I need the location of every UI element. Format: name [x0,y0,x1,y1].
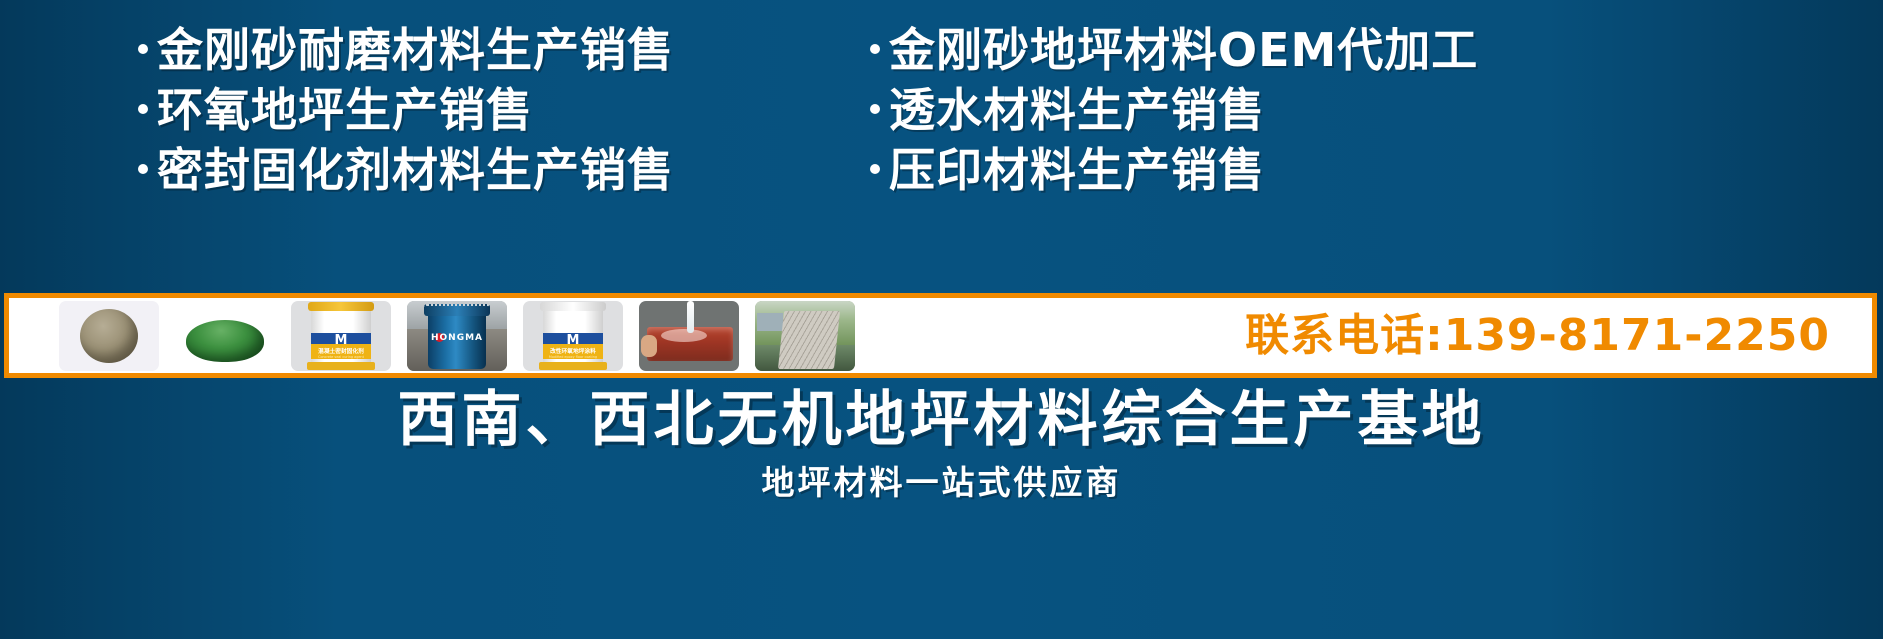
bucket-label-text: 改性环氧地坪涂料 [545,348,602,355]
bullet-icon [870,44,880,54]
powder-mound [80,309,138,363]
bucket-base [539,362,607,370]
feature-label: 透水材料生产销售 [889,82,1265,138]
water-stream [687,301,694,333]
stone-walkway-photo [755,301,855,371]
grey-abrasive-powder-photo [59,301,159,371]
bullet-icon [870,164,880,174]
product-strip: M 混凝土密封固化剂 Concrete seal curing agent HO… [4,293,1877,378]
promo-banner: 金刚砂耐磨材料生产销售 环氧地坪生产销售 密封固化剂材料生产销售 金刚砂地坪材料… [0,0,1883,639]
bullet-icon [138,104,148,114]
green-abrasive-powder-photo [175,301,275,371]
epoxy-floor-coating-bucket-photo: M 改性环氧地坪涂料 Modified epoxy floor coating [523,301,623,371]
brand-m-logo: M [335,334,348,347]
contact-phone[interactable]: 联系电话:139-8171-2250 [1245,314,1872,358]
brand-m-logo: M [567,334,580,347]
subheadline: 地坪材料一站式供应商 [0,463,1883,503]
bullet-icon [138,164,148,174]
permeable-concrete-sample-photo [639,301,739,371]
product-photo-row: M 混凝土密封固化剂 Concrete seal curing agent HO… [9,298,855,373]
bucket-lid [540,302,606,311]
bucket-base [307,362,375,370]
feature-label: 金刚砂地坪材料OEM代加工 [889,22,1478,78]
hongma-steel-drum-photo: HONGMA [407,301,507,371]
bullet-icon [138,44,148,54]
bucket-label-text: 混凝土密封固化剂 [313,348,370,355]
bullet-icon [870,104,880,114]
feature-item: 金刚砂地坪材料OEM代加工 [870,22,1880,78]
feature-item: 金刚砂耐磨材料生产销售 [138,22,860,78]
feature-item: 透水材料生产销售 [870,82,1880,138]
building [757,313,783,331]
water-pool [661,329,707,342]
bucket-label-subtext: Concrete seal curing agent [311,355,371,359]
feature-item: 压印材料生产销售 [870,142,1880,198]
bucket-lid [308,302,374,311]
feature-label: 密封固化剂材料生产销售 [157,142,674,198]
powder-mound [186,320,264,362]
hongma-logo-text: HONGMA [428,333,486,343]
bucket-body: M 改性环氧地坪涂料 Modified epoxy floor coating [543,307,603,369]
headline: 西南、西北无机地坪材料综合生产基地 [0,385,1883,455]
concrete-sealer-bucket-photo: M 混凝土密封固化剂 Concrete seal curing agent [291,301,391,371]
feature-column-right: 金刚砂地坪材料OEM代加工 透水材料生产销售 压印材料生产销售 [860,22,1880,237]
feature-item: 环氧地坪生产销售 [138,82,860,138]
feature-label: 压印材料生产销售 [889,142,1265,198]
drum-body: HONGMA [428,307,486,369]
stone-pathway [778,311,840,369]
feature-column-left: 金刚砂耐磨材料生产销售 环氧地坪生产销售 密封固化剂材料生产销售 [0,22,860,237]
feature-item: 密封固化剂材料生产销售 [138,142,860,198]
feature-label: 环氧地坪生产销售 [157,82,533,138]
feature-lists: 金刚砂耐磨材料生产销售 环氧地坪生产销售 密封固化剂材料生产销售 金刚砂地坪材料… [0,22,1883,237]
feature-label: 金刚砂耐磨材料生产销售 [157,22,674,78]
bucket-body: M 混凝土密封固化剂 Concrete seal curing agent [311,307,371,369]
hand [641,335,657,357]
drum-rim [424,304,490,316]
bucket-label-subtext: Modified epoxy floor coating [543,355,603,359]
